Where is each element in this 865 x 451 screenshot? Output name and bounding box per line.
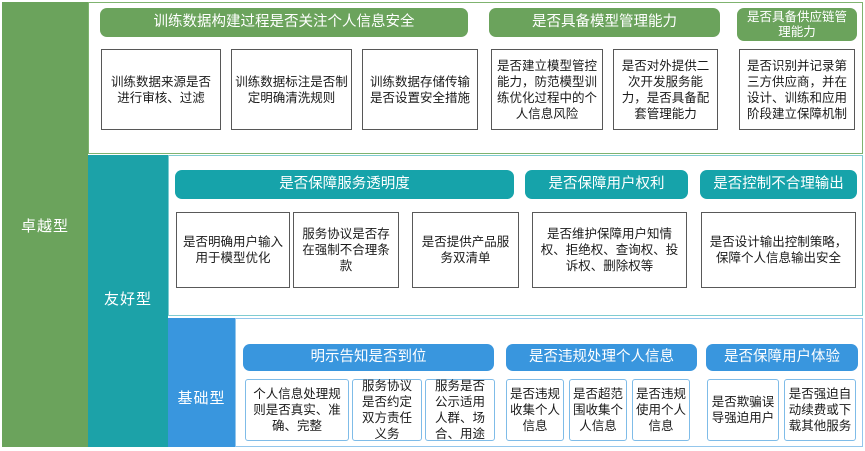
group-header-user-experience[interactable]: 是否保障用户体验 [706,344,858,371]
tier-rail-basic [168,318,235,447]
item-card[interactable]: 是否欺骗误导强迫用户 [707,379,779,441]
item-card[interactable]: 服务是否公示适用人群、场合、用途 [425,379,495,441]
group-header-illegal-processing[interactable]: 是否违规处理个人信息 [506,344,697,371]
group-header-training-data[interactable]: 训练数据构建过程是否关注个人信息安全 [100,8,468,37]
maturity-framework-diagram: 卓越型 训练数据构建过程是否关注个人信息安全 是否具备模型管理能力 是否具备供应… [0,0,865,451]
item-card[interactable]: 服务协议是否约定双方责任义务 [352,379,422,441]
item-card[interactable]: 是否违规收集个人信息 [506,379,564,441]
group-header-disclosure[interactable]: 明示告知是否到位 [243,344,494,371]
item-card[interactable]: 是否强迫自动续费或下载其他服务 [784,379,856,441]
group-header-model-management[interactable]: 是否具备模型管理能力 [489,8,720,37]
tier-label-friendly: 友好型 [88,288,168,309]
item-card[interactable]: 训练数据来源是否进行审核、过滤 [101,49,221,130]
group-header-supply-chain[interactable]: 是否具备供应链管理能力 [737,8,857,41]
item-card[interactable]: 训练数据标注是否制定明确清洗规则 [231,49,352,130]
tier-label-basic: 基础型 [168,387,235,408]
item-card[interactable]: 训练数据存储传输是否设置安全措施 [362,49,478,130]
item-card[interactable]: 是否识别并记录第三方供应商，并在设计、训练和应用阶段建立保障机制 [739,49,855,130]
item-card[interactable]: 是否超范围收集个人信息 [569,379,627,441]
item-card[interactable]: 是否对外提供二次开发服务能力，是否具备配套管理能力 [613,49,718,130]
item-card[interactable]: 个人信息处理规则是否真实、准确、完整 [245,379,349,441]
group-header-output-control[interactable]: 是否控制不合理输出 [700,170,857,199]
item-card[interactable]: 是否维护保障用户知情权、拒绝权、查询权、投诉权、删除权等 [532,212,687,288]
item-card[interactable]: 是否提供产品服务双清单 [412,212,519,288]
group-header-service-transparency[interactable]: 是否保障服务透明度 [175,170,514,199]
item-card[interactable]: 是否违规使用个人信息 [632,379,690,441]
item-card[interactable]: 是否建立模型管控能力，防范模型训练优化过程中的个人信息风险 [491,49,603,130]
item-card[interactable]: 是否设计输出控制策略，保障个人信息输出安全 [701,212,856,288]
tier-label-excellent: 卓越型 [2,215,88,236]
item-card[interactable]: 是否明确用户输入用于模型优化 [176,212,290,288]
item-card[interactable]: 服务协议是否存在强制不合理条款 [293,212,399,288]
group-header-user-rights[interactable]: 是否保障用户权利 [525,170,688,199]
